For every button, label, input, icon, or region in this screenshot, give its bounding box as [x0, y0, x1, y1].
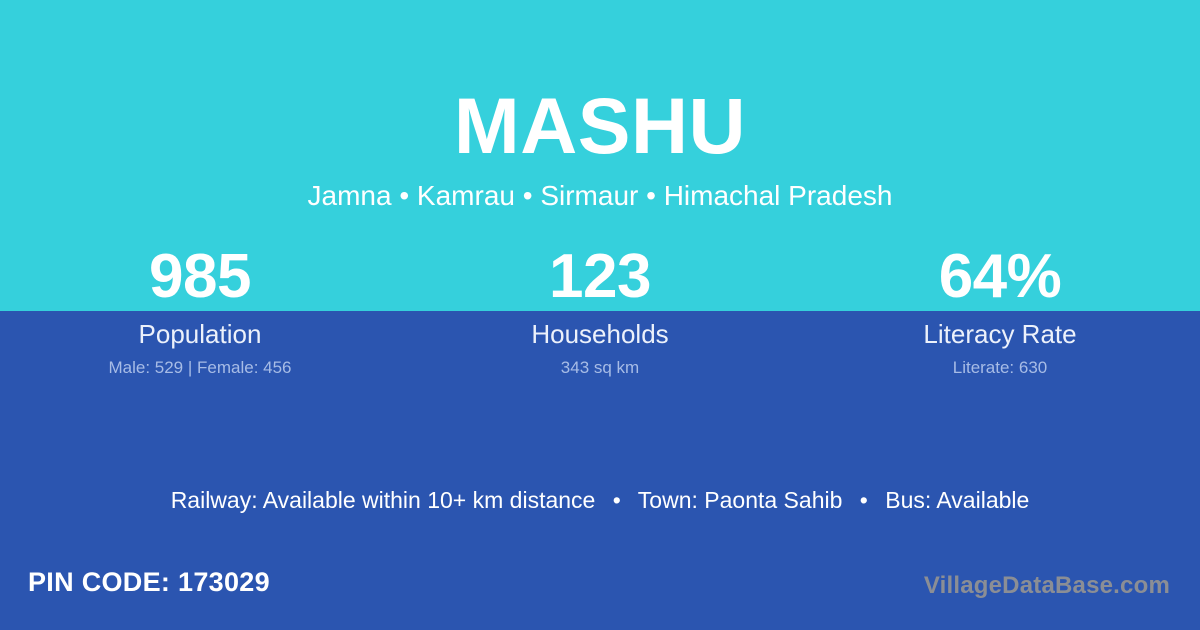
card-header: MASHU Jamna • Kamrau • Sirmaur • Himacha… — [0, 0, 1200, 213]
stats-row: 985 Population Male: 529 | Female: 456 1… — [0, 243, 1200, 379]
site-brand: VillageDataBase.com — [924, 572, 1170, 600]
page-title: MASHU — [0, 0, 1200, 170]
card-footer: PIN CODE: 173029 VillageDataBase.com — [0, 552, 1200, 630]
stat-sublabel: 343 sq km — [400, 357, 800, 379]
stat-label: Literacy Rate — [800, 319, 1200, 349]
stat-population: 985 Population Male: 529 | Female: 456 — [0, 243, 400, 379]
stat-value: 64% — [800, 243, 1200, 311]
stat-literacy-rate: 64% Literacy Rate Literate: 630 — [800, 243, 1200, 379]
stat-sublabel: Male: 529 | Female: 456 — [0, 357, 400, 379]
facility-railway: Railway: Available within 10+ km distanc… — [171, 487, 596, 513]
bullet-separator-icon: • — [602, 486, 632, 515]
stat-households: 123 Households 343 sq km — [400, 243, 800, 379]
breadcrumb: Jamna • Kamrau • Sirmaur • Himachal Prad… — [0, 170, 1200, 213]
village-info-card: MASHU Jamna • Kamrau • Sirmaur • Himacha… — [0, 0, 1200, 630]
facility-bus: Bus: Available — [885, 487, 1029, 513]
pin-code: PIN CODE: 173029 — [28, 566, 270, 598]
stat-value: 123 — [400, 243, 800, 311]
facility-town: Town: Paonta Sahib — [638, 487, 843, 513]
stat-value: 985 — [0, 243, 400, 311]
stat-label: Households — [400, 319, 800, 349]
facilities-line: Railway: Available within 10+ km distanc… — [0, 486, 1200, 515]
stat-sublabel: Literate: 630 — [800, 357, 1200, 379]
bullet-separator-icon: • — [849, 486, 879, 515]
stat-label: Population — [0, 319, 400, 349]
